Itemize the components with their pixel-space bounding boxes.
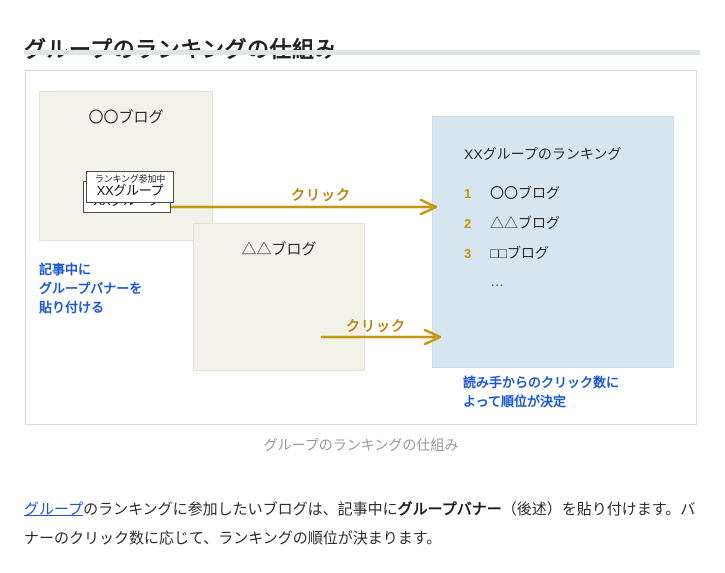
ranking-row-ellipsis: … — [464, 273, 654, 303]
figure-container: XXグループのランキング 1 〇〇ブログ 2 △△ブログ 3 □□ブログ — [25, 70, 697, 425]
ranking-panel-title: XXグループのランキング — [464, 144, 621, 164]
click-label-a: クリック — [291, 185, 351, 205]
annotation-paste-banner-line3: 貼り付ける — [39, 299, 142, 318]
ranking-row: 3 □□ブログ — [464, 243, 654, 273]
page-title: グループのランキングの仕組み — [24, 32, 337, 64]
group-link[interactable]: グループ — [24, 501, 83, 518]
figure-caption: グループのランキングの仕組み — [25, 435, 697, 455]
rank-blog-name: □□ブログ — [490, 243, 549, 263]
group-banner-b[interactable]: ランキング参加中 XXグループ — [86, 171, 174, 203]
paragraph-part-1: のランキングに参加したいブログは、記事中に — [83, 501, 398, 518]
annotation-rank-by-clicks-line2: よって順位が決定 — [463, 393, 619, 412]
rank-blog-name: △△ブログ — [490, 213, 560, 233]
annotation-paste-banner-line2: グループバナーを — [39, 280, 142, 299]
annotation-paste-banner-line1: 記事中に — [39, 261, 142, 280]
group-banner-b-title: XXグループ — [93, 184, 167, 198]
body-paragraph: グループのランキングに参加したいブログは、記事中にグループバナー（後述）を貼り付… — [24, 495, 704, 554]
blog-box-b-title: △△ブログ — [194, 238, 364, 259]
rank-number: 3 — [464, 246, 490, 261]
blog-box-b: △△ブログ — [193, 223, 365, 371]
annotation-rank-by-clicks: 読み手からのクリック数に よって順位が決定 — [463, 374, 619, 412]
ranking-row: 1 〇〇ブログ — [464, 183, 654, 213]
ranking-panel: XXグループのランキング 1 〇〇ブログ 2 △△ブログ 3 □□ブログ — [432, 116, 674, 368]
diagram-canvas: XXグループのランキング 1 〇〇ブログ 2 △△ブログ 3 □□ブログ — [26, 71, 696, 424]
rank-number: 1 — [464, 186, 490, 201]
rank-blog-name: 〇〇ブログ — [490, 183, 560, 203]
ranking-ellipsis: … — [490, 273, 505, 289]
click-label-b: クリック — [346, 316, 406, 336]
ranking-list: 1 〇〇ブログ 2 △△ブログ 3 □□ブログ … — [464, 183, 654, 303]
annotation-paste-banner: 記事中に グループバナーを 貼り付ける — [39, 261, 142, 318]
page-root: グループのランキングの仕組み XXグループのランキング 1 〇〇ブログ 2 △△… — [0, 0, 725, 573]
blog-box-a-title: 〇〇ブログ — [40, 106, 212, 127]
ranking-row: 2 △△ブログ — [464, 213, 654, 243]
heading-divider — [24, 50, 700, 55]
rank-number: 2 — [464, 216, 490, 231]
annotation-rank-by-clicks-line1: 読み手からのクリック数に — [463, 374, 619, 393]
paragraph-bold-term: グループバナー — [398, 501, 502, 518]
blog-box-a: 〇〇ブログ — [39, 91, 213, 241]
